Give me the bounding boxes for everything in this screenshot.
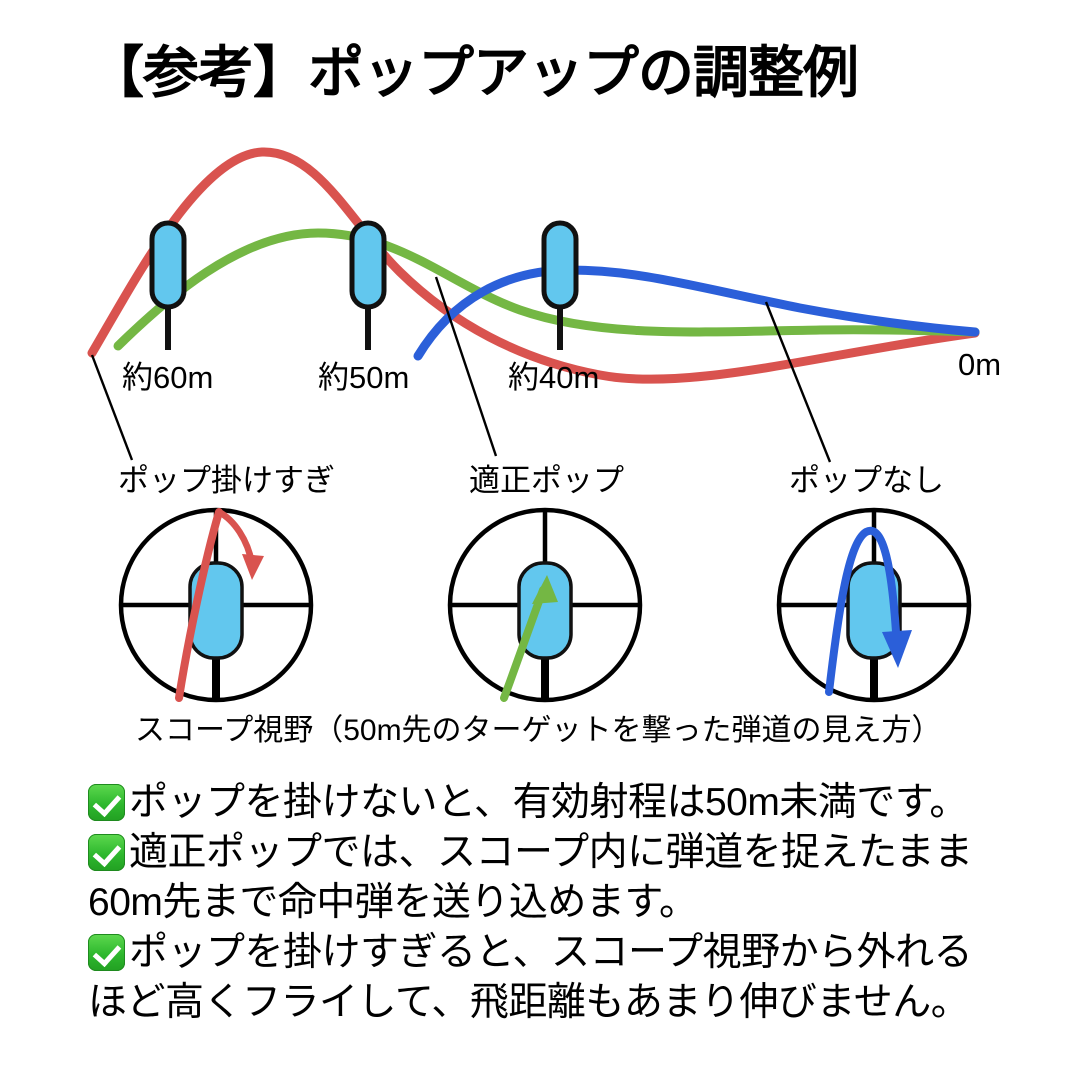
check-icon <box>88 784 125 821</box>
scope-view-over-pop <box>121 510 311 700</box>
note-text: ほど高くフライして、飛距離もあまり伸びません。 <box>88 981 969 1024</box>
curve-label-no-pop: ポップなし <box>789 463 944 498</box>
distance-label-50m: 約50m <box>318 360 409 395</box>
check-icon <box>88 834 125 871</box>
note-text: ポップを掛けないと、有効射程は50m未満です。 <box>129 781 968 824</box>
note-item: ポップを掛けすぎると、スコープ視野から外れる <box>88 928 1028 978</box>
scope-view-proper-pop <box>450 510 640 700</box>
target-marker-50m <box>352 223 384 350</box>
note-text: 適正ポップでは、スコープ内に弾道を捉えたまま <box>129 831 973 874</box>
note-item: ポップを掛けないと、有効射程は50m未満です。 <box>88 778 1028 828</box>
check-icon <box>88 934 125 971</box>
target-markers <box>152 223 576 350</box>
note-continuation: ほど高くフライして、飛距離もあまり伸びません。 <box>88 978 1028 1028</box>
note-continuation: 60m先まで命中弾を送り込めます。 <box>88 878 1028 928</box>
page-title: 【参考】ポップアップの調整例 <box>88 44 858 103</box>
curve-label-over-pop: ポップ掛けすぎ <box>118 463 335 498</box>
trajectory-figure: 約60m 約50m 約40m 0m ポップ掛けすぎ 適正ポップ ポップなし <box>0 120 1080 760</box>
trajectory-curves <box>92 152 975 379</box>
scope-view-no-pop <box>779 510 969 700</box>
scope-caption: スコープ視野（50m先のターゲットを撃った弾道の見え方） <box>135 714 942 747</box>
note-text: ポップを掛けすぎると、スコープ視野から外れる <box>129 931 972 974</box>
origin-label-0m: 0m <box>958 347 1001 382</box>
poster-root: 【参考】ポップアップの調整例 約 <box>0 0 1080 1080</box>
target-marker-60m <box>152 223 184 350</box>
target-marker-40m <box>544 223 576 350</box>
notes-list: ポップを掛けないと、有効射程は50m未満です。 適正ポップでは、スコープ内に弾道… <box>88 778 1028 1028</box>
distance-label-40m: 約40m <box>508 360 599 395</box>
note-text: 60m先まで命中弾を送り込めます。 <box>88 881 697 924</box>
curve-label-proper-pop: 適正ポップ <box>469 463 624 498</box>
note-item: 適正ポップでは、スコープ内に弾道を捉えたまま <box>88 828 1028 878</box>
distance-label-60m: 約60m <box>122 360 213 395</box>
